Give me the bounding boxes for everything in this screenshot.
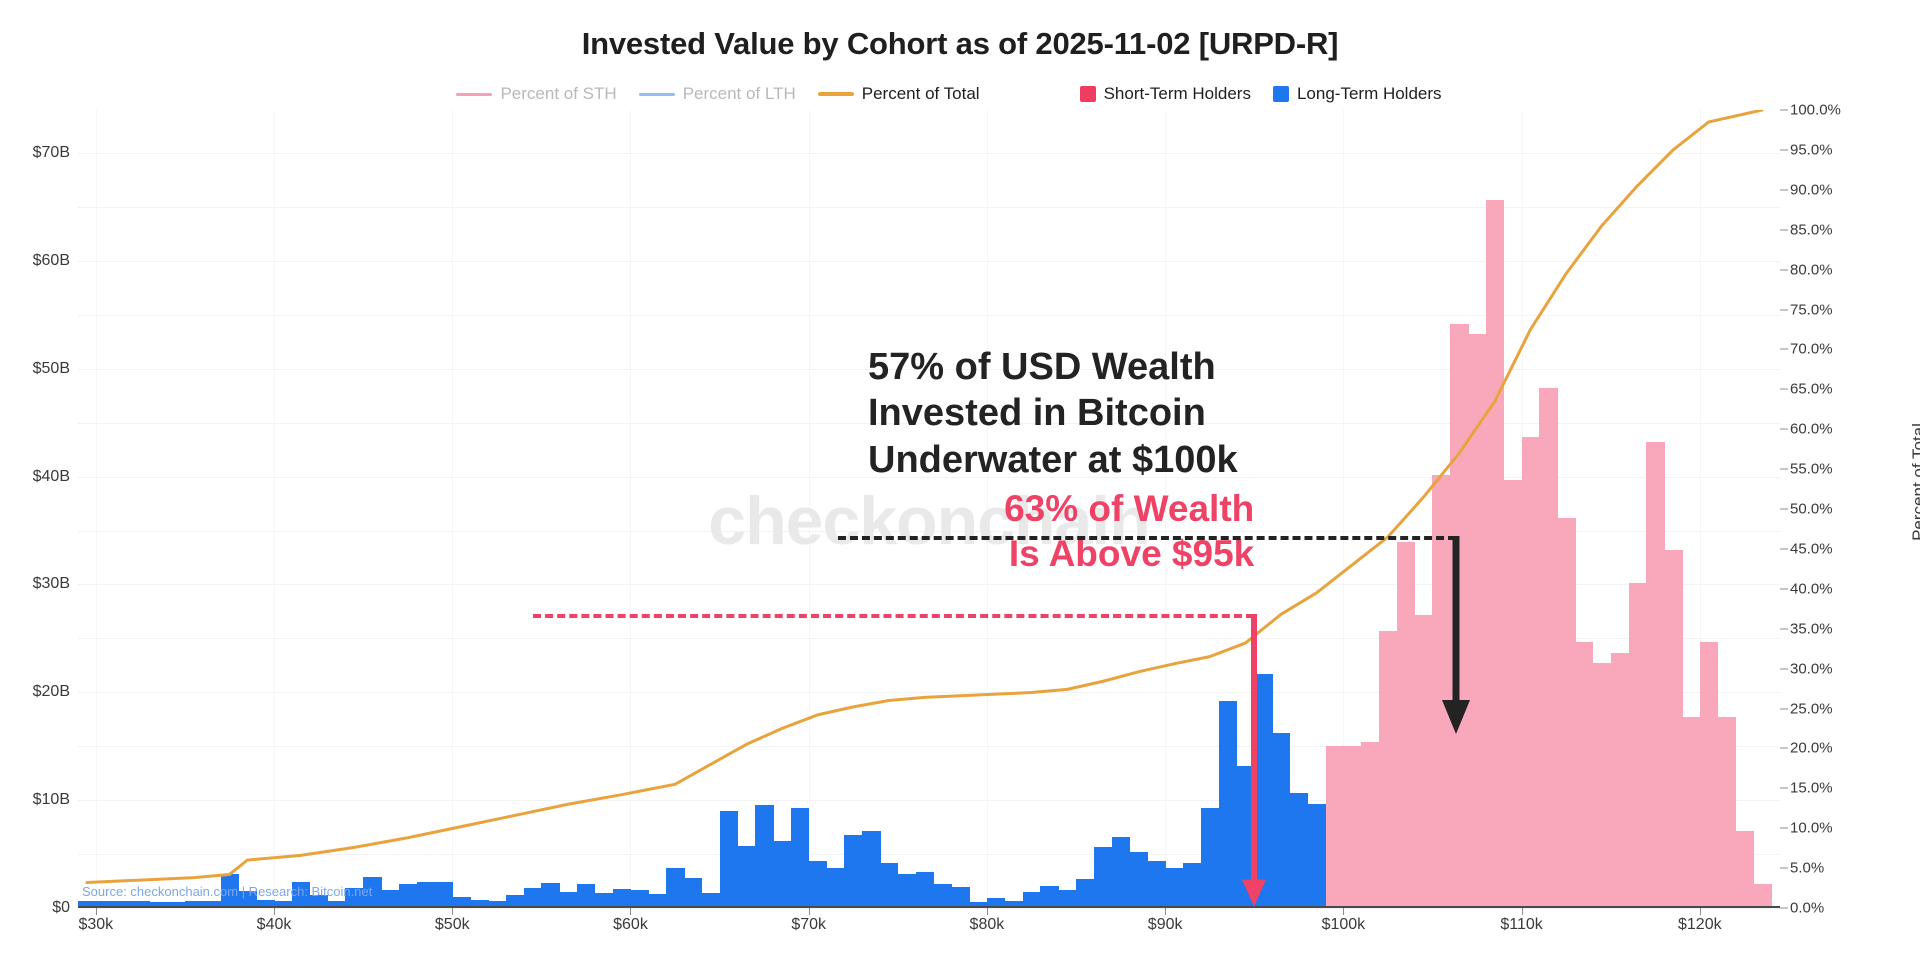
y-axis-right-tick-mark: [1780, 748, 1788, 749]
page-title: Invested Value by Cohort as of 2025-11-0…: [0, 26, 1920, 62]
y-axis-right-tick-label: 55.0%: [1790, 461, 1860, 478]
y-axis-right-tick-label: 10.0%: [1790, 820, 1860, 837]
y-axis-right-tick-label: 20.0%: [1790, 740, 1860, 757]
y-axis-right-tick-label: 25.0%: [1790, 700, 1860, 717]
y-axis-right-tick-label: 80.0%: [1790, 261, 1860, 278]
y-axis-right-tick-label: 50.0%: [1790, 501, 1860, 518]
pink-annotation-text: 63% of Wealth Is Above $95k: [478, 486, 1254, 576]
y-axis-right-tick-mark: [1780, 708, 1788, 709]
y-axis-right-tick-label: 40.0%: [1790, 580, 1860, 597]
plot-area: checkonchain 63% of Wealth Is Above $95k…: [78, 110, 1780, 908]
legend-item-percent-of-total[interactable]: Percent of Total: [818, 84, 980, 104]
x-axis-tick-label: $90k: [1148, 916, 1183, 934]
x-axis-tick-mark: [452, 908, 453, 915]
chart-legend: Percent of STH Percent of LTH Percent of…: [0, 84, 1920, 104]
y-axis-title-right: Percent of Total: [1909, 423, 1920, 541]
x-axis-tick-mark: [1522, 908, 1523, 915]
gridline-horizontal: [78, 908, 1780, 909]
x-axis-tick-mark: [96, 908, 97, 915]
legend-label-percent-of-lth: Percent of LTH: [683, 84, 796, 104]
black-annotation-text: 57% of USD Wealth Invested in Bitcoin Un…: [868, 344, 1238, 483]
black-reference-dashed-line: [838, 536, 1456, 540]
legend-swatch-icon-sth: [1080, 86, 1096, 102]
y-axis-right-tick-mark: [1780, 429, 1788, 430]
spot-price-down-arrow-icon: [1234, 614, 1274, 908]
x-axis-tick-label: $60k: [613, 916, 648, 934]
x-axis-tick-label: $40k: [257, 916, 292, 934]
y-axis-left-tick-label: $0: [6, 899, 70, 917]
y-axis-right-tick-mark: [1780, 828, 1788, 829]
legend-line-icon-sth: [456, 93, 492, 96]
y-axis-right-tick-label: 35.0%: [1790, 620, 1860, 637]
y-axis-right-tick-label: 60.0%: [1790, 421, 1860, 438]
legend-item-percent-of-sth[interactable]: Percent of STH: [456, 84, 616, 104]
y-axis-right-tick-label: 90.0%: [1790, 181, 1860, 198]
y-axis-right-tick-mark: [1780, 349, 1788, 350]
y-axis-right-tick-label: 65.0%: [1790, 381, 1860, 398]
y-axis-left-tick-label: $70B: [6, 144, 70, 162]
y-axis-right-tick-label: 70.0%: [1790, 341, 1860, 358]
annotation-layer: 63% of Wealth Is Above $95k57% of USD We…: [78, 110, 1780, 906]
x-axis-tick-label: $50k: [435, 916, 470, 934]
y-axis-left-tick-label: $30B: [6, 575, 70, 593]
y-axis-right-tick-mark: [1780, 509, 1788, 510]
y-axis-right-tick-label: 95.0%: [1790, 141, 1860, 158]
legend-item-percent-of-lth[interactable]: Percent of LTH: [639, 84, 796, 104]
y-axis-left-tick-label: $20B: [6, 683, 70, 701]
x-axis-tick-label: $30k: [78, 916, 113, 934]
x-axis-tick-label: $120k: [1678, 916, 1722, 934]
y-axis-right-tick-mark: [1780, 389, 1788, 390]
legend-label-long-term-holders: Long-Term Holders: [1297, 84, 1442, 104]
x-axis-tick-mark: [274, 908, 275, 915]
legend-label-short-term-holders: Short-Term Holders: [1104, 84, 1251, 104]
y-axis-right-tick-label: 15.0%: [1790, 780, 1860, 797]
legend-line-icon-lth: [639, 93, 675, 96]
y-axis-right-tick-mark: [1780, 229, 1788, 230]
y-axis-right-tick-label: 75.0%: [1790, 301, 1860, 318]
y-axis-left-tick-label: $40B: [6, 468, 70, 486]
y-axis-left-tick-label: $60B: [6, 252, 70, 270]
underwater-level-down-arrow-icon: [1434, 536, 1478, 736]
y-axis-left-tick-label: $10B: [6, 791, 70, 809]
pink-reference-dashed-line: [533, 614, 1254, 618]
y-axis-right-tick-label: 0.0%: [1790, 900, 1860, 917]
legend-label-percent-of-total: Percent of Total: [862, 84, 980, 104]
y-axis-right-tick-mark: [1780, 149, 1788, 150]
legend-swatch-icon-lth: [1273, 86, 1289, 102]
y-axis-right-tick-label: 30.0%: [1790, 660, 1860, 677]
y-axis-right-tick-mark: [1780, 469, 1788, 470]
y-axis-right-tick-mark: [1780, 309, 1788, 310]
y-axis-right-tick-mark: [1780, 269, 1788, 270]
source-note: Source: checkonchain.com | Research: Bit…: [82, 884, 372, 899]
y-axis-right-tick-label: 100.0%: [1790, 102, 1860, 119]
x-axis-tick-label: $80k: [970, 916, 1005, 934]
y-axis-right-tick-mark: [1780, 588, 1788, 589]
y-axis-right-tick-label: 85.0%: [1790, 221, 1860, 238]
legend-item-long-term-holders[interactable]: Long-Term Holders: [1273, 84, 1442, 104]
x-axis-tick-label: $100k: [1322, 916, 1366, 934]
y-axis-right-tick-label: 5.0%: [1790, 860, 1860, 877]
y-axis-right-tick-mark: [1780, 668, 1788, 669]
x-axis-tick-mark: [987, 908, 988, 915]
legend-item-short-term-holders[interactable]: Short-Term Holders: [1080, 84, 1251, 104]
y-axis-left-tick-label: $50B: [6, 360, 70, 378]
x-axis-tick-label: $70k: [791, 916, 826, 934]
y-axis-right-tick-mark: [1780, 868, 1788, 869]
legend-label-percent-of-sth: Percent of STH: [500, 84, 616, 104]
y-axis-right-tick-mark: [1780, 908, 1788, 909]
y-axis-right-tick-mark: [1780, 189, 1788, 190]
x-axis-tick-mark: [809, 908, 810, 915]
legend-line-icon-total: [818, 92, 854, 96]
y-axis-right-tick-mark: [1780, 628, 1788, 629]
y-axis-right-tick-label: 45.0%: [1790, 540, 1860, 557]
x-axis-tick-mark: [1165, 908, 1166, 915]
y-axis-right-tick-mark: [1780, 788, 1788, 789]
x-axis-tick-mark: [630, 908, 631, 915]
chart-root: Invested Value by Cohort as of 2025-11-0…: [0, 0, 1920, 964]
x-axis-tick-mark: [1700, 908, 1701, 915]
x-axis-tick-mark: [1343, 908, 1344, 915]
x-axis-tick-label: $110k: [1500, 916, 1542, 934]
y-axis-right-tick-mark: [1780, 110, 1788, 111]
y-axis-right-tick-mark: [1780, 548, 1788, 549]
